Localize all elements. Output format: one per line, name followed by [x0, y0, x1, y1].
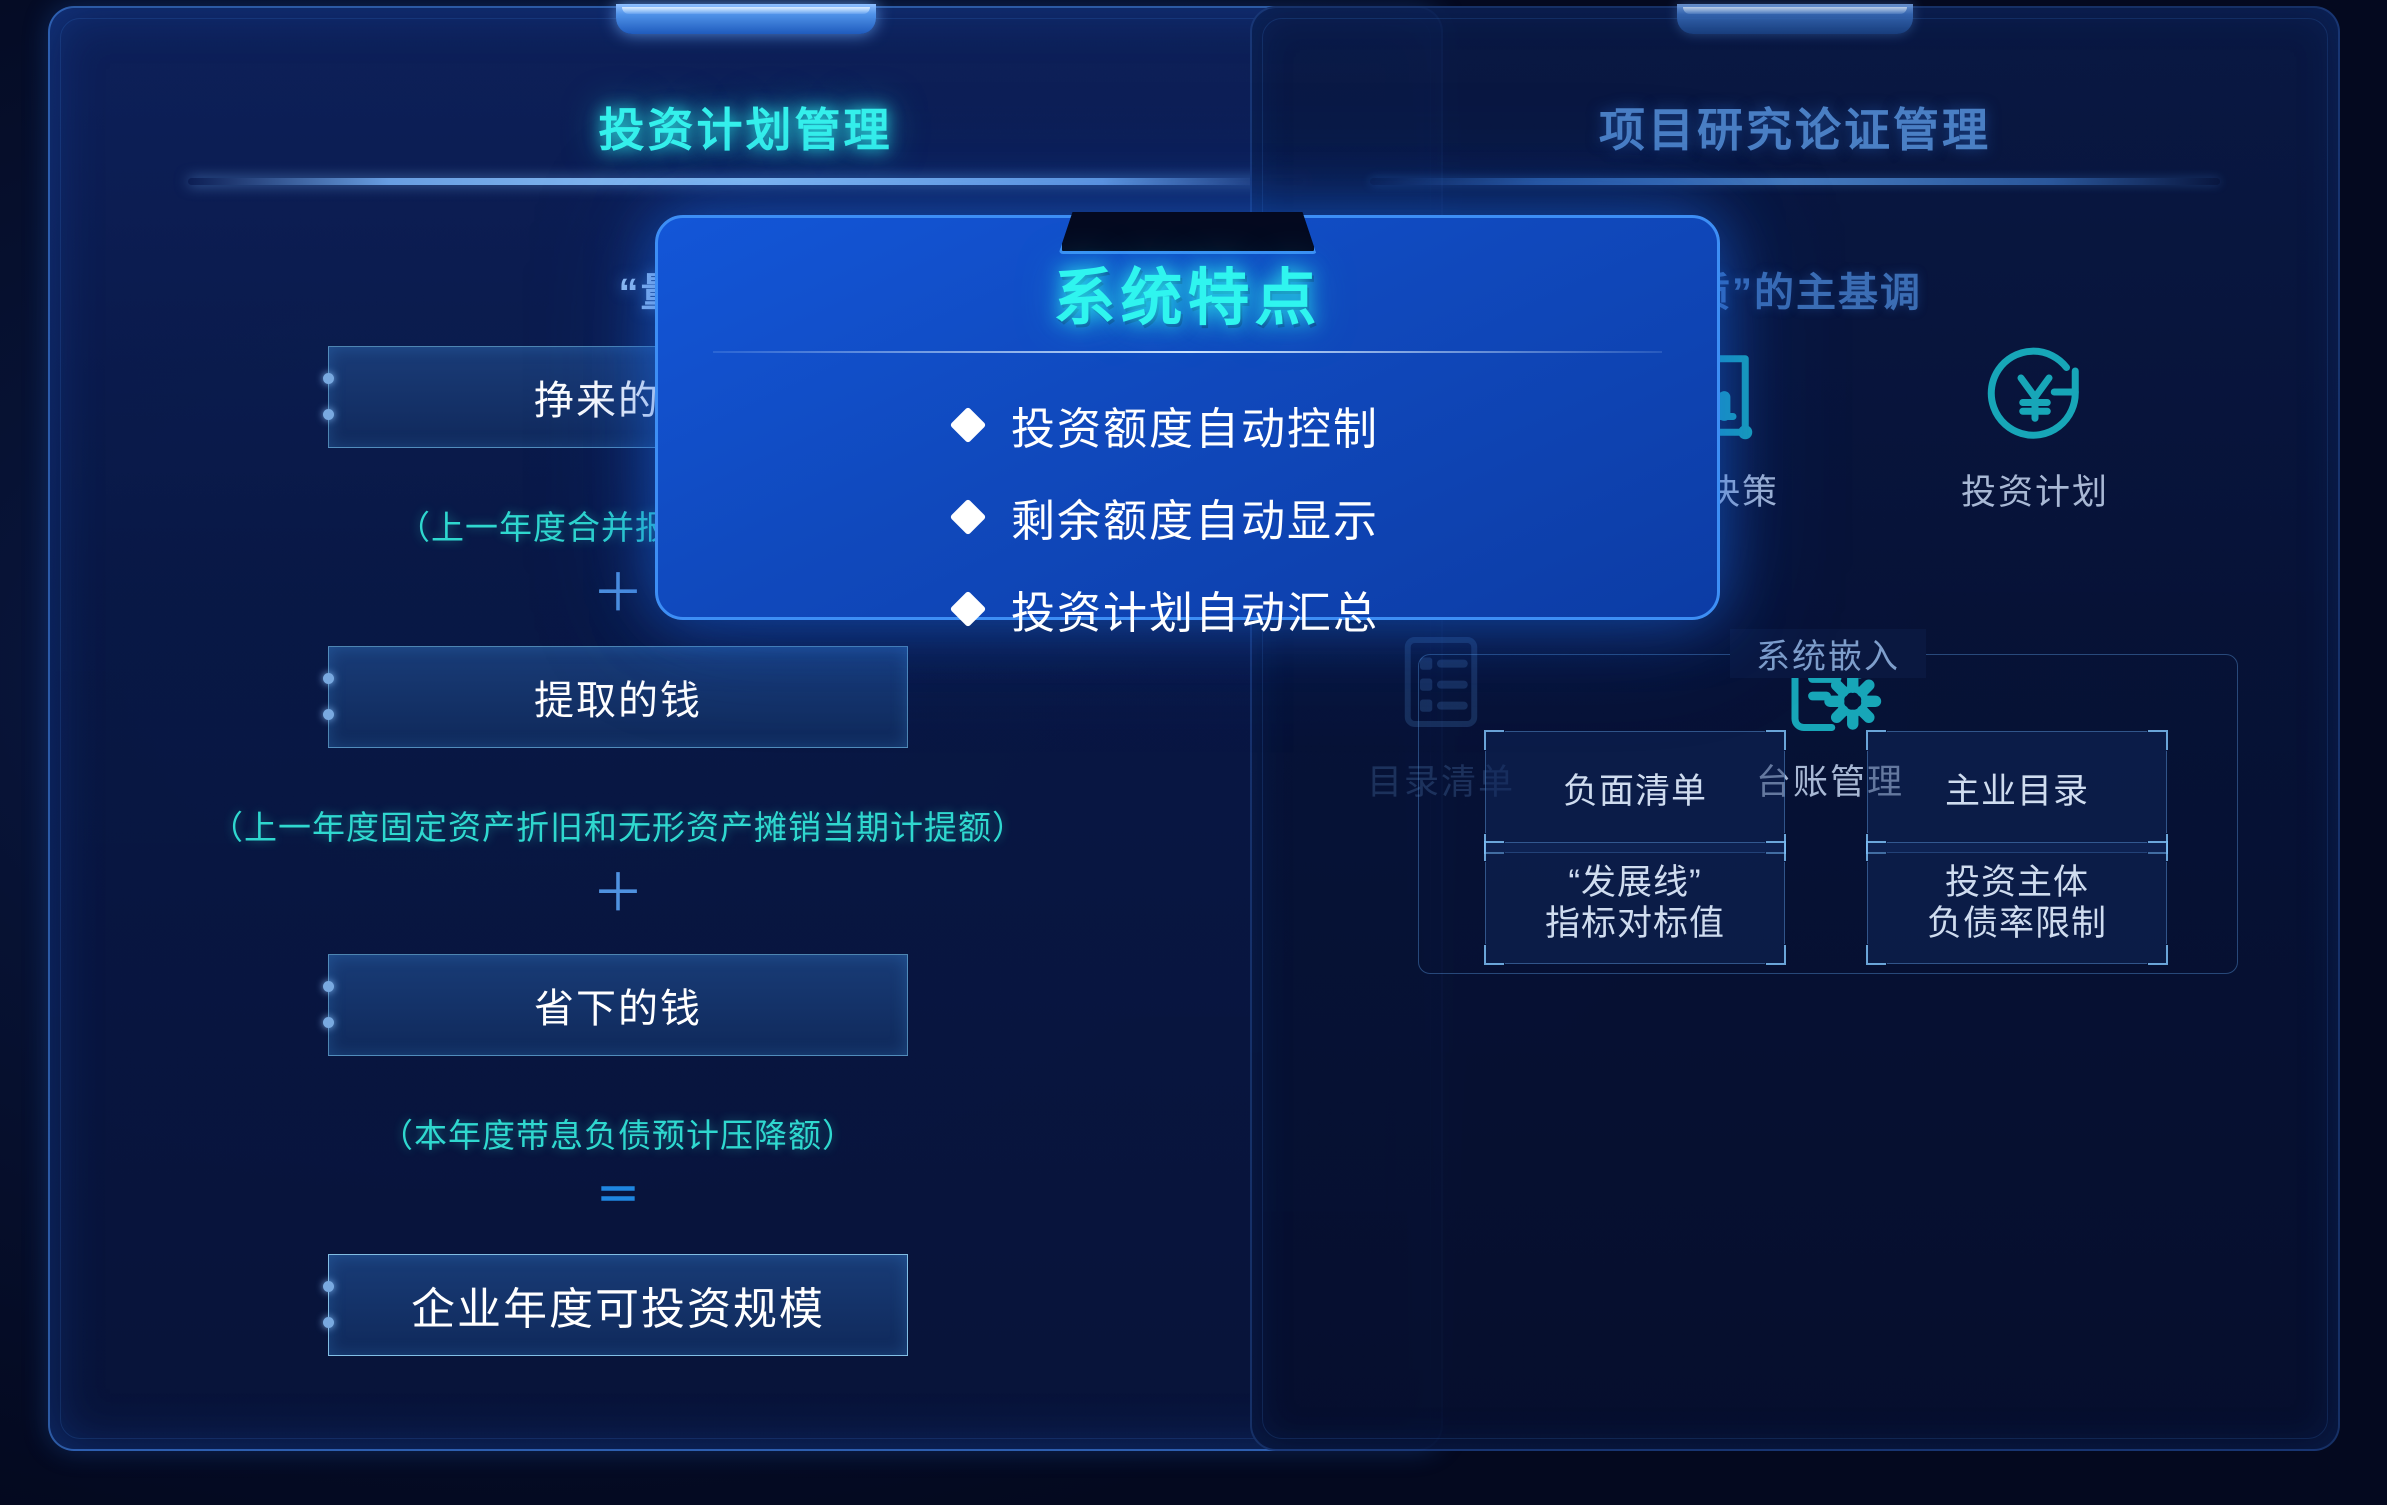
- formula-result-label: 企业年度可投资规模: [411, 1273, 825, 1337]
- system-embed-group: 系统嵌入 负面清单 主业目录 “发展线” 指标对标值 投资主体 负债率限制: [1418, 654, 2238, 974]
- embed-box-label: 主业目录: [1945, 771, 2089, 812]
- formula-box-withdrawn: 提取的钱: [328, 646, 908, 748]
- embed-box-development-line[interactable]: “发展线” 指标对标值: [1485, 842, 1785, 964]
- panel-right-title: 项目研究论证管理: [1250, 94, 2340, 160]
- embed-box-label-line1: 投资主体: [1927, 862, 2107, 903]
- connector-dot: [323, 373, 334, 384]
- panel-left-title: 投资计划管理: [48, 94, 1443, 160]
- diamond-bullet-icon: [950, 407, 987, 444]
- system-embed-title: 系统嵌入: [1730, 629, 1926, 678]
- formula-operator-plus-2: ＋: [48, 868, 1188, 920]
- feature-list-item: 投资额度自动控制: [955, 393, 1379, 457]
- yen-refresh-icon: [1910, 336, 2160, 448]
- feature-list-item: 剩余额度自动显示: [955, 485, 1379, 549]
- connector-dot: [323, 409, 334, 420]
- panel-right-divider: [1370, 178, 2220, 185]
- icon-cell-investment-plan[interactable]: 投资计划: [1910, 336, 2160, 515]
- connector-dot: [323, 1317, 334, 1328]
- feature-item-label: 剩余额度自动显示: [1011, 485, 1379, 549]
- formula-note-withdrawn: （上一年度固定资产折旧和无形资产摊销当期计提额）: [48, 801, 1188, 849]
- feature-card-title: 系统特点: [655, 247, 1720, 337]
- panel-left-divider: [188, 178, 1303, 185]
- embed-box-label: 负面清单: [1563, 771, 1707, 812]
- connector-dot: [323, 1017, 334, 1028]
- feature-list: 投资额度自动控制 剩余额度自动显示 投资计划自动汇总: [955, 393, 1379, 669]
- embed-box-label-line2: 负债率限制: [1927, 903, 2107, 944]
- formula-box-saved: 省下的钱: [328, 954, 908, 1056]
- feature-list-item: 投资计划自动汇总: [955, 577, 1379, 641]
- embed-box-main-business-catalog[interactable]: 主业目录: [1867, 731, 2167, 853]
- icon-label: 投资计划: [1910, 464, 2160, 515]
- embed-box-negative-list[interactable]: 负面清单: [1485, 731, 1785, 853]
- formula-box-label: 省下的钱: [534, 976, 702, 1034]
- connector-dot: [323, 709, 334, 720]
- panel-right-top-tab: [1677, 4, 1913, 34]
- formula-box-label: 提取的钱: [534, 668, 702, 726]
- connector-dot: [323, 981, 334, 992]
- feature-item-label: 投资计划自动汇总: [1011, 577, 1379, 641]
- diamond-bullet-icon: [950, 499, 987, 536]
- connector-dot: [323, 673, 334, 684]
- feature-card-divider: [713, 351, 1662, 353]
- formula-box-result: 企业年度可投资规模: [328, 1254, 908, 1356]
- embed-box-label-line1: “发展线”: [1545, 862, 1725, 903]
- embed-box-investor-debt-limit[interactable]: 投资主体 负债率限制: [1867, 842, 2167, 964]
- formula-operator-equals: ＝: [48, 1174, 1188, 1218]
- embed-box-label-line2: 指标对标值: [1545, 903, 1725, 944]
- connector-dot: [323, 1281, 334, 1292]
- system-features-card: 系统特点 投资额度自动控制 剩余额度自动显示 投资计划自动汇总: [655, 215, 1720, 620]
- formula-note-saved: （本年度带息负债预计压降额）: [48, 1109, 1188, 1157]
- panel-left-top-tab: [616, 4, 876, 34]
- feature-item-label: 投资额度自动控制: [1011, 393, 1379, 457]
- diamond-bullet-icon: [950, 591, 987, 628]
